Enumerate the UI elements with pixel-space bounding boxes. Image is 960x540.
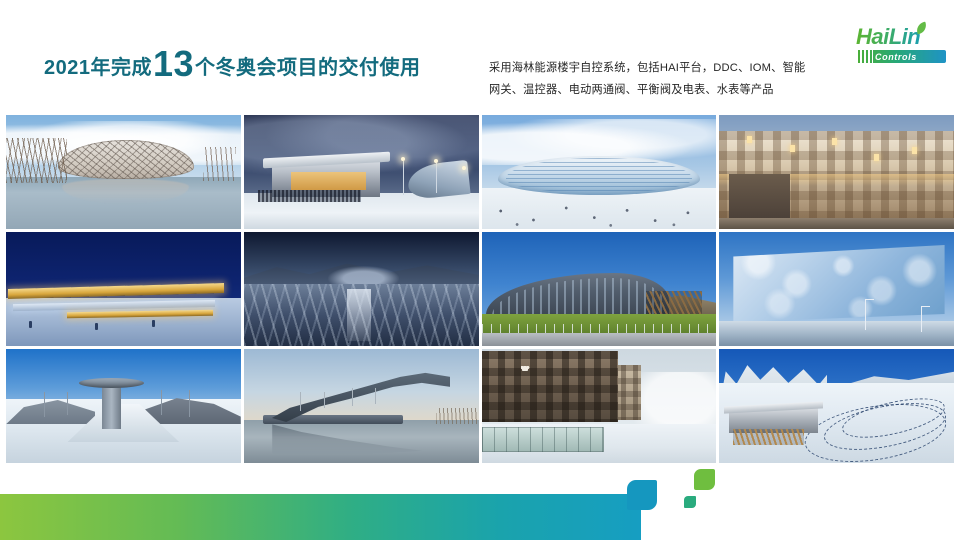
stone-entry-wing [729, 174, 790, 220]
footer-step-accent [627, 480, 657, 510]
photo-tile-cross-country-skiing-centre-night [244, 115, 479, 229]
flood-lamp [462, 166, 466, 170]
street-lamp-post [865, 300, 866, 330]
photo-tile-biathlon-track-snow-slope [719, 349, 954, 463]
slide-header: 2021年完成 13 个冬奥会项目的交付使用 采用海林能源楼宇自控系统，包括HA… [0, 0, 960, 112]
photo-tile-ski-jumping-centre-front-snow [6, 349, 241, 463]
logo-wordmark: HaiLin [856, 26, 948, 48]
footer-gradient-bar [0, 494, 641, 540]
title-prefix: 2021年完成 [44, 58, 152, 78]
person-silhouette [152, 320, 155, 327]
flood-lamp [401, 157, 405, 161]
signal-bars-icon [856, 50, 873, 63]
light-mast [324, 392, 325, 408]
ice-ribbon-oval [498, 156, 700, 195]
light-mast [375, 388, 376, 404]
light-mast [300, 392, 301, 410]
slide-footer-decoration [0, 462, 960, 540]
lit-window [874, 154, 879, 161]
lit-interior [291, 172, 366, 190]
light-pole [436, 163, 437, 193]
light-mast [352, 388, 353, 406]
description-line-1: 采用海林能源楼宇自控系统，包括HAI平台，DDC、IOM、智能 [489, 57, 841, 79]
leaf-accent-large-icon [694, 469, 715, 490]
street-lamp-arm [921, 306, 930, 307]
flood-lamp [434, 159, 438, 163]
lit-window [912, 147, 917, 154]
light-mast [44, 392, 45, 417]
lit-window [747, 136, 752, 143]
title-highlight-number: 13 [153, 46, 194, 82]
lit-window [832, 138, 837, 145]
presentation-slide: 2021年完成 13 个冬奥会项目的交付使用 采用海林能源楼宇自控系统，包括HA… [0, 0, 960, 540]
photo-tile-aerial-village-dusk [244, 232, 479, 346]
logo-tagline: Controls [873, 52, 917, 62]
photo-tile-alpine-resort-hotel [719, 115, 954, 229]
photo-tile-ski-jumping-centre-profile-reflection [244, 349, 479, 463]
timber-facade [733, 429, 803, 445]
bare-trees-left [6, 138, 67, 184]
person-silhouette [95, 323, 98, 330]
apartment-block-near [482, 351, 618, 422]
leaf-accent-small-icon [684, 496, 696, 508]
description-line-2: 网关、温控器、电动两通阀、平衡阀及电表、水表等产品 [489, 79, 841, 101]
photo-tile-national-aquatics-centre-water-cube [719, 232, 954, 346]
background-trees [436, 408, 478, 424]
plaza-base [719, 321, 954, 346]
light-mast [161, 390, 162, 415]
jump-tower [102, 381, 121, 429]
bare-trees-right [203, 147, 236, 181]
photo-tile-national-speed-skating-oval [482, 115, 717, 229]
logo-tagline-bar: Controls [856, 50, 946, 63]
olympic-rings-icon [521, 366, 532, 371]
photo-tile-athletes-village-night-lights [6, 232, 241, 346]
ruyi-top-ring [79, 378, 145, 388]
street-lamp-arm [865, 299, 874, 300]
central-axis-plaza [347, 289, 370, 341]
water-cube-facade [733, 243, 944, 325]
foreground-road [482, 333, 717, 346]
light-mast [67, 392, 68, 415]
foreground-road [719, 218, 954, 229]
spectator-crowd [258, 190, 361, 201]
project-photo-grid [6, 115, 954, 463]
light-mast [189, 390, 190, 417]
brand-logo: HaiLin Controls [856, 26, 948, 66]
lit-window [790, 145, 795, 152]
photo-tile-mountain-village-apartments-snow [482, 349, 717, 463]
photo-tile-national-stadium-birds-nest [6, 115, 241, 229]
visitor-crowd [482, 199, 717, 229]
title-suffix: 个冬奥会项目的交付使用 [195, 58, 421, 78]
page-title: 2021年完成 13 个冬奥会项目的交付使用 [44, 44, 421, 80]
light-pole [403, 161, 404, 195]
photo-tile-curved-glass-venue-lawn [482, 232, 717, 346]
street-lamp-post [921, 307, 922, 332]
description-text: 采用海林能源楼宇自控系统，包括HAI平台，DDC、IOM、智能 网关、温控器、电… [489, 57, 841, 101]
glass-balustrade [482, 427, 604, 452]
